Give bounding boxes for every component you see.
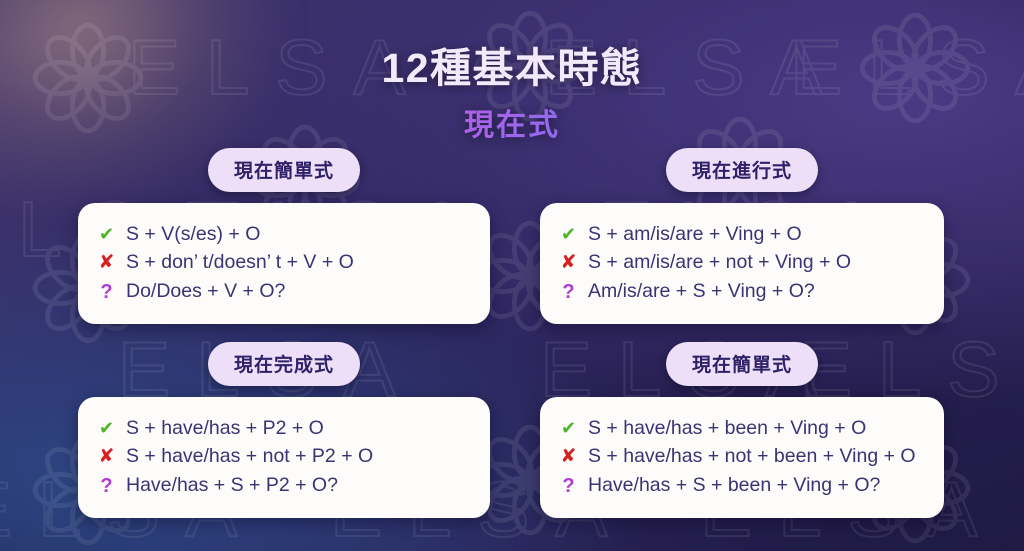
tense-header-row: 現在簡單式 bbox=[540, 342, 944, 386]
formula-row: ✔S + have/has + P2 + O bbox=[98, 414, 470, 443]
formula-row: ?Have/has + S + P2 + O? bbox=[98, 471, 470, 500]
formula-row: ?Have/has + S + been + Ving + O? bbox=[560, 471, 924, 500]
check-icon: ✔ bbox=[98, 225, 115, 243]
formula-text: Have/has + S + P2 + O? bbox=[126, 476, 338, 496]
tense-card-present-perfect-continuous: ✔S + have/has + been + Ving + O✘S + have… bbox=[540, 397, 944, 518]
tense-title-pill-present-simple[interactable]: 現在簡單式 bbox=[208, 148, 360, 192]
tense-title-pill-present-continuous[interactable]: 現在進行式 bbox=[666, 148, 818, 192]
tense-card-present-continuous: ✔S + am/is/are + Ving + O✘S + am/is/are … bbox=[540, 203, 944, 324]
infographic-canvas: ELSAELSAELSAELSAELSAELSAELSAELSAELSAELSA… bbox=[0, 0, 1024, 551]
question-mark-icon: ? bbox=[98, 476, 115, 496]
tense-block-present-simple: 現在簡單式✔S + V(s/es) + O✘S + don’ t/doesn’ … bbox=[78, 148, 490, 324]
cross-icon: ✘ bbox=[98, 447, 115, 466]
tense-block-present-perfect: 現在完成式✔S + have/has + P2 + O✘S + have/has… bbox=[78, 342, 490, 518]
formula-text: S + have/has + been + Ving + O bbox=[588, 419, 866, 439]
tense-block-present-perfect-continuous: 現在簡單式✔S + have/has + been + Ving + O✘S +… bbox=[540, 342, 944, 518]
formula-text: S + have/has + not + been + Ving + O bbox=[588, 447, 916, 467]
cross-icon: ✘ bbox=[560, 253, 577, 272]
formula-row: ✘S + have/has + not + been + Ving + O bbox=[560, 443, 924, 472]
formula-text: Do/Does + V + O? bbox=[126, 282, 285, 302]
formula-row: ✔S + V(s/es) + O bbox=[98, 220, 470, 249]
formula-text: Have/has + S + been + Ving + O? bbox=[588, 476, 880, 496]
check-icon: ✔ bbox=[560, 225, 577, 243]
formula-row: ✘S + am/is/are + not + Ving + O bbox=[560, 249, 924, 278]
tense-card-present-perfect: ✔S + have/has + P2 + O✘S + have/has + no… bbox=[78, 397, 490, 518]
check-icon: ✔ bbox=[98, 419, 115, 437]
question-mark-icon: ? bbox=[560, 476, 577, 496]
formula-row: ?Am/is/are + S + Ving + O? bbox=[560, 277, 924, 306]
cross-icon: ✘ bbox=[560, 447, 577, 466]
check-icon: ✔ bbox=[560, 419, 577, 437]
formula-row: ✔S + have/has + been + Ving + O bbox=[560, 414, 924, 443]
tense-block-present-continuous: 現在進行式✔S + am/is/are + Ving + O✘S + am/is… bbox=[540, 148, 944, 324]
tense-header-row: 現在進行式 bbox=[540, 148, 944, 192]
formula-text: S + have/has + P2 + O bbox=[126, 419, 324, 439]
formula-row: ✘S + have/has + not + P2 + O bbox=[98, 443, 470, 472]
tense-header-row: 現在簡單式 bbox=[78, 148, 490, 192]
page-subtitle: 現在式 bbox=[0, 100, 1024, 144]
formula-text: S + am/is/are + Ving + O bbox=[588, 225, 802, 245]
formula-text: Am/is/are + S + Ving + O? bbox=[588, 282, 815, 302]
tense-title-pill-present-perfect[interactable]: 現在完成式 bbox=[208, 342, 360, 386]
formula-row: ✘S + don’ t/doesn’ t + V + O bbox=[98, 249, 470, 278]
tense-title-pill-present-perfect-continuous[interactable]: 現在簡單式 bbox=[666, 342, 818, 386]
question-mark-icon: ? bbox=[98, 282, 115, 302]
formula-text: S + don’ t/doesn’ t + V + O bbox=[126, 253, 354, 273]
tense-card-present-simple: ✔S + V(s/es) + O✘S + don’ t/doesn’ t + V… bbox=[78, 203, 490, 324]
tense-header-row: 現在完成式 bbox=[78, 342, 490, 386]
question-mark-icon: ? bbox=[560, 282, 577, 302]
formula-row: ?Do/Does + V + O? bbox=[98, 277, 470, 306]
formula-row: ✔S + am/is/are + Ving + O bbox=[560, 220, 924, 249]
cross-icon: ✘ bbox=[98, 253, 115, 272]
formula-text: S + V(s/es) + O bbox=[126, 225, 260, 245]
formula-text: S + am/is/are + not + Ving + O bbox=[588, 253, 851, 273]
page-title: 12種基本時態 bbox=[0, 34, 1024, 94]
formula-text: S + have/has + not + P2 + O bbox=[126, 447, 373, 467]
